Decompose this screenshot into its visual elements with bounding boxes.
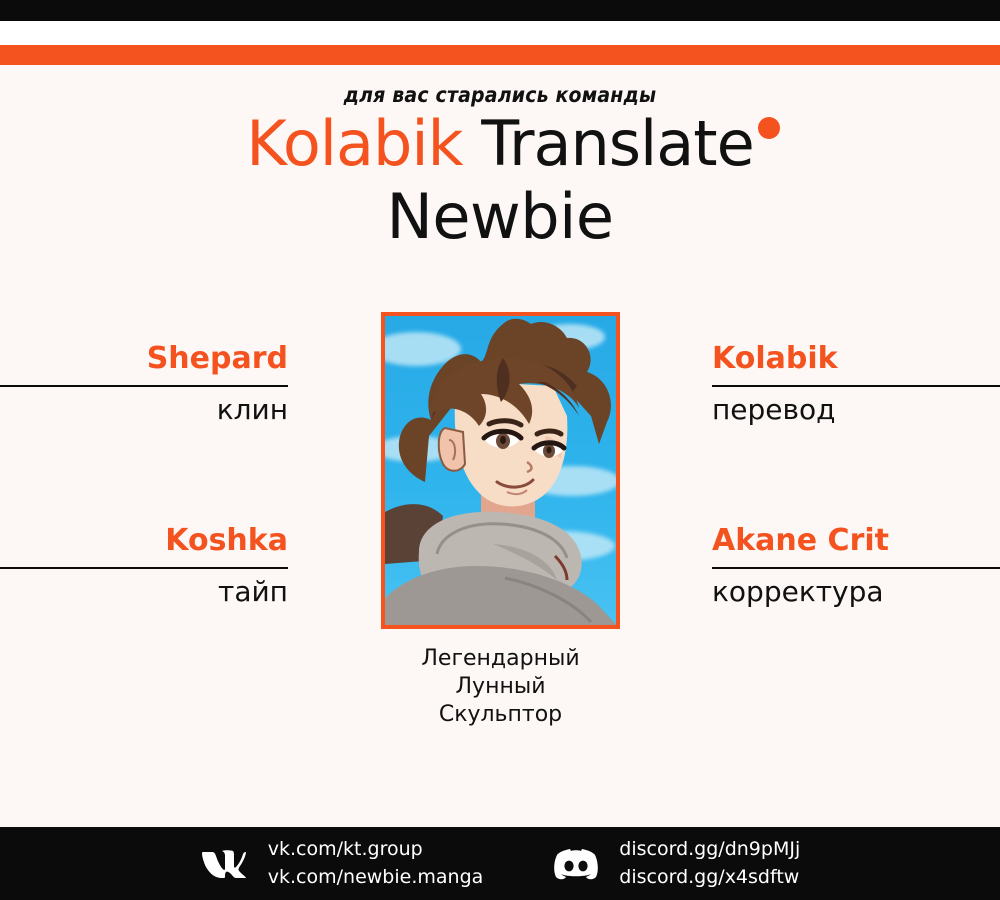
credit-divider (712, 567, 1000, 569)
credit-block-right-2: Akane Crit корректура (712, 524, 1000, 608)
caption-line-1: Легендарный (381, 645, 620, 673)
dot-accent-icon (758, 117, 780, 139)
header: для вас старались команды Kolabik Transl… (0, 65, 1000, 253)
vk-icon (200, 849, 250, 879)
top-bar-white (0, 21, 1000, 45)
credit-name: Akane Crit (712, 524, 1000, 559)
credit-name: Shepard (0, 342, 288, 377)
top-bar-orange (0, 45, 1000, 65)
portrait-caption: Легендарный Лунный Скульптор (381, 645, 620, 729)
credit-name: Kolabik (712, 342, 1000, 377)
vk-link-1[interactable]: vk.com/kt.group (268, 836, 484, 864)
credit-block-right-1: Kolabik перевод (712, 342, 1000, 426)
brand-space (462, 107, 481, 180)
credit-name: Koshka (0, 524, 288, 559)
page-title: Newbie (0, 180, 1000, 253)
credit-role: клин (0, 393, 288, 427)
discord-icon (551, 847, 601, 881)
credit-divider (0, 567, 288, 569)
caption-line-3: Скульптор (381, 701, 620, 729)
vk-links[interactable]: vk.com/kt.group vk.com/newbie.manga (268, 836, 484, 891)
brand-name-translate: Translate (481, 107, 754, 180)
portrait-image (381, 312, 620, 629)
credit-block-left-2: Koshka тайп (0, 524, 288, 608)
brand-name-kolabik: Kolabik (246, 107, 462, 180)
footer: vk.com/kt.group vk.com/newbie.manga disc… (0, 827, 1000, 900)
brand-title: Kolabik Translate (246, 111, 753, 176)
discord-social-group[interactable]: discord.gg/dn9pMJj discord.gg/x4sdftw (551, 836, 800, 891)
credit-role: перевод (712, 393, 1000, 427)
credit-divider (712, 385, 1000, 387)
credit-role: корректура (712, 575, 1000, 609)
discord-links[interactable]: discord.gg/dn9pMJj discord.gg/x4sdftw (619, 836, 800, 891)
credit-role: тайп (0, 575, 288, 609)
vk-link-2[interactable]: vk.com/newbie.manga (268, 864, 484, 892)
vk-social-group[interactable]: vk.com/kt.group vk.com/newbie.manga (200, 836, 484, 891)
top-bar-black (0, 0, 1000, 21)
credit-block-left-1: Shepard клин (0, 342, 288, 426)
discord-link-1[interactable]: discord.gg/dn9pMJj (619, 836, 800, 864)
discord-link-2[interactable]: discord.gg/x4sdftw (619, 864, 800, 892)
tagline: для вас старались команды (0, 83, 1000, 107)
caption-line-2: Лунный (381, 673, 620, 701)
credit-divider (0, 385, 288, 387)
character-illustration (385, 316, 620, 629)
